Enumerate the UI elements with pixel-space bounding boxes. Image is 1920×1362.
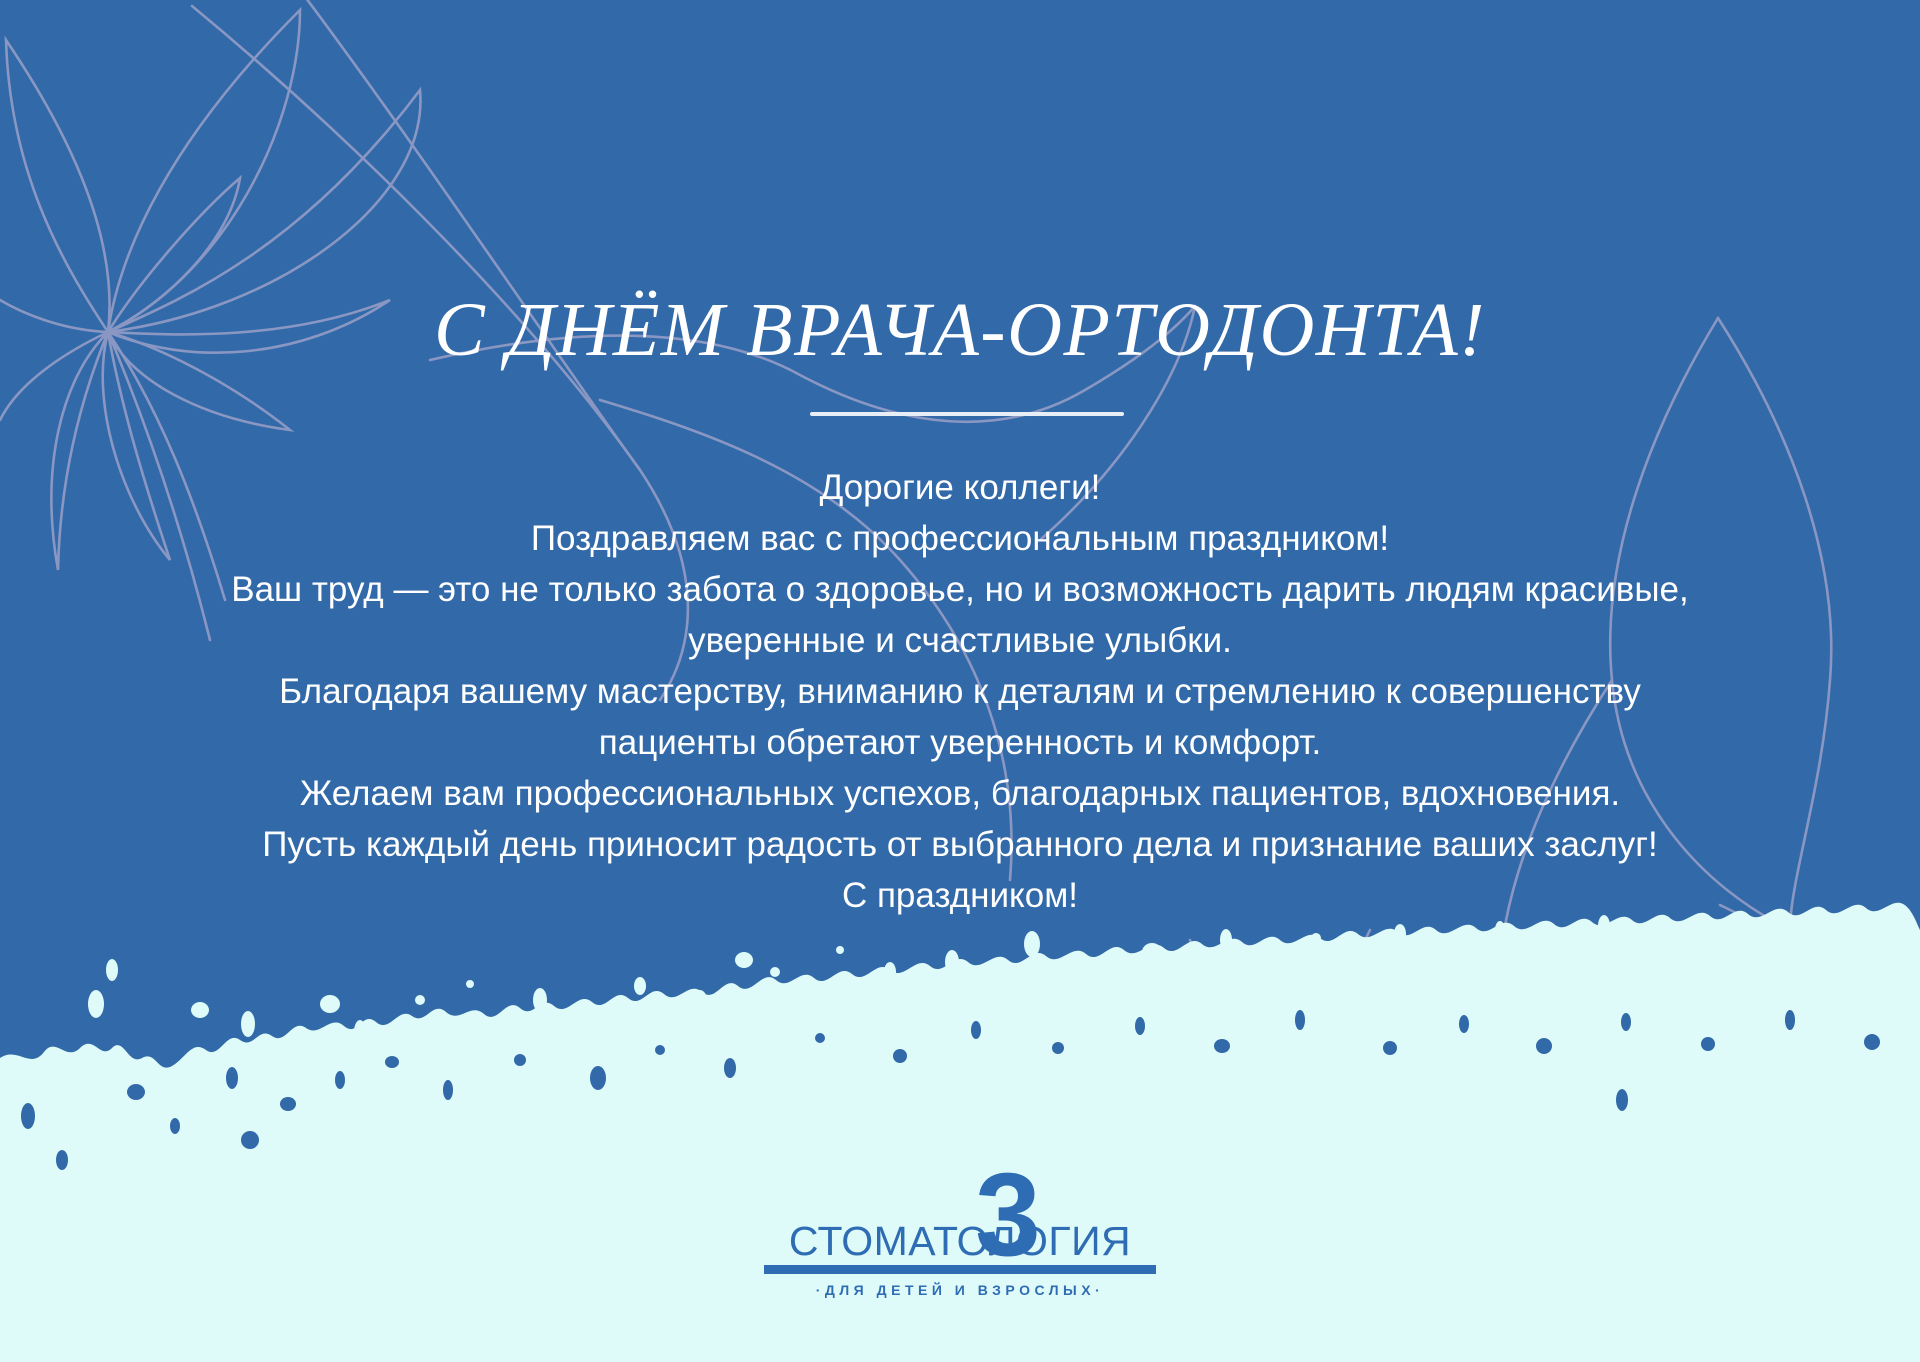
greeting-line: Поздравляем вас с профессиональным празд… <box>0 513 1920 564</box>
greeting-line: пациенты обретают уверенность и комфорт. <box>0 717 1920 768</box>
logo-tagline: ·ДЛЯ ДЕТЕЙ И ВЗРОСЛЫХ· <box>816 1281 1105 1298</box>
greeting-body: Дорогие коллеги! Поздравляем вас с профе… <box>0 462 1920 921</box>
card-content: С ДНЁМ ВРАЧА-ОРТОДОНТА! Дорогие коллеги!… <box>0 0 1920 1362</box>
greeting-line: С праздником! <box>0 870 1920 921</box>
greeting-line: Ваш труд — это не только забота о здоров… <box>0 564 1920 615</box>
greeting-line: Дорогие коллеги! <box>0 462 1920 513</box>
clinic-logo: 3 СТОМАТОЛОГИЯ ·ДЛЯ ДЕТЕЙ И ВЗРОСЛЫХ· <box>750 1143 1170 1308</box>
logo-svg: 3 СТОМАТОЛОГИЯ ·ДЛЯ ДЕТЕЙ И ВЗРОСЛЫХ· <box>750 1143 1170 1308</box>
greeting-line: Благодаря вашему мастерству, вниманию к … <box>0 666 1920 717</box>
greeting-line: Пусть каждый день приносит радость от вы… <box>0 819 1920 870</box>
greeting-line: Желаем вам профессиональных успехов, бла… <box>0 768 1920 819</box>
greeting-line: уверенные и счастливые улыбки. <box>0 615 1920 666</box>
logo-wordmark: СТОМАТОЛОГИЯ <box>789 1218 1131 1264</box>
title-divider <box>810 412 1124 416</box>
logo-underline <box>764 1265 1156 1274</box>
greeting-card: С ДНЁМ ВРАЧА-ОРТОДОНТА! Дорогие коллеги!… <box>0 0 1920 1362</box>
page-title: С ДНЁМ ВРАЧА-ОРТОДОНТА! <box>0 287 1920 374</box>
